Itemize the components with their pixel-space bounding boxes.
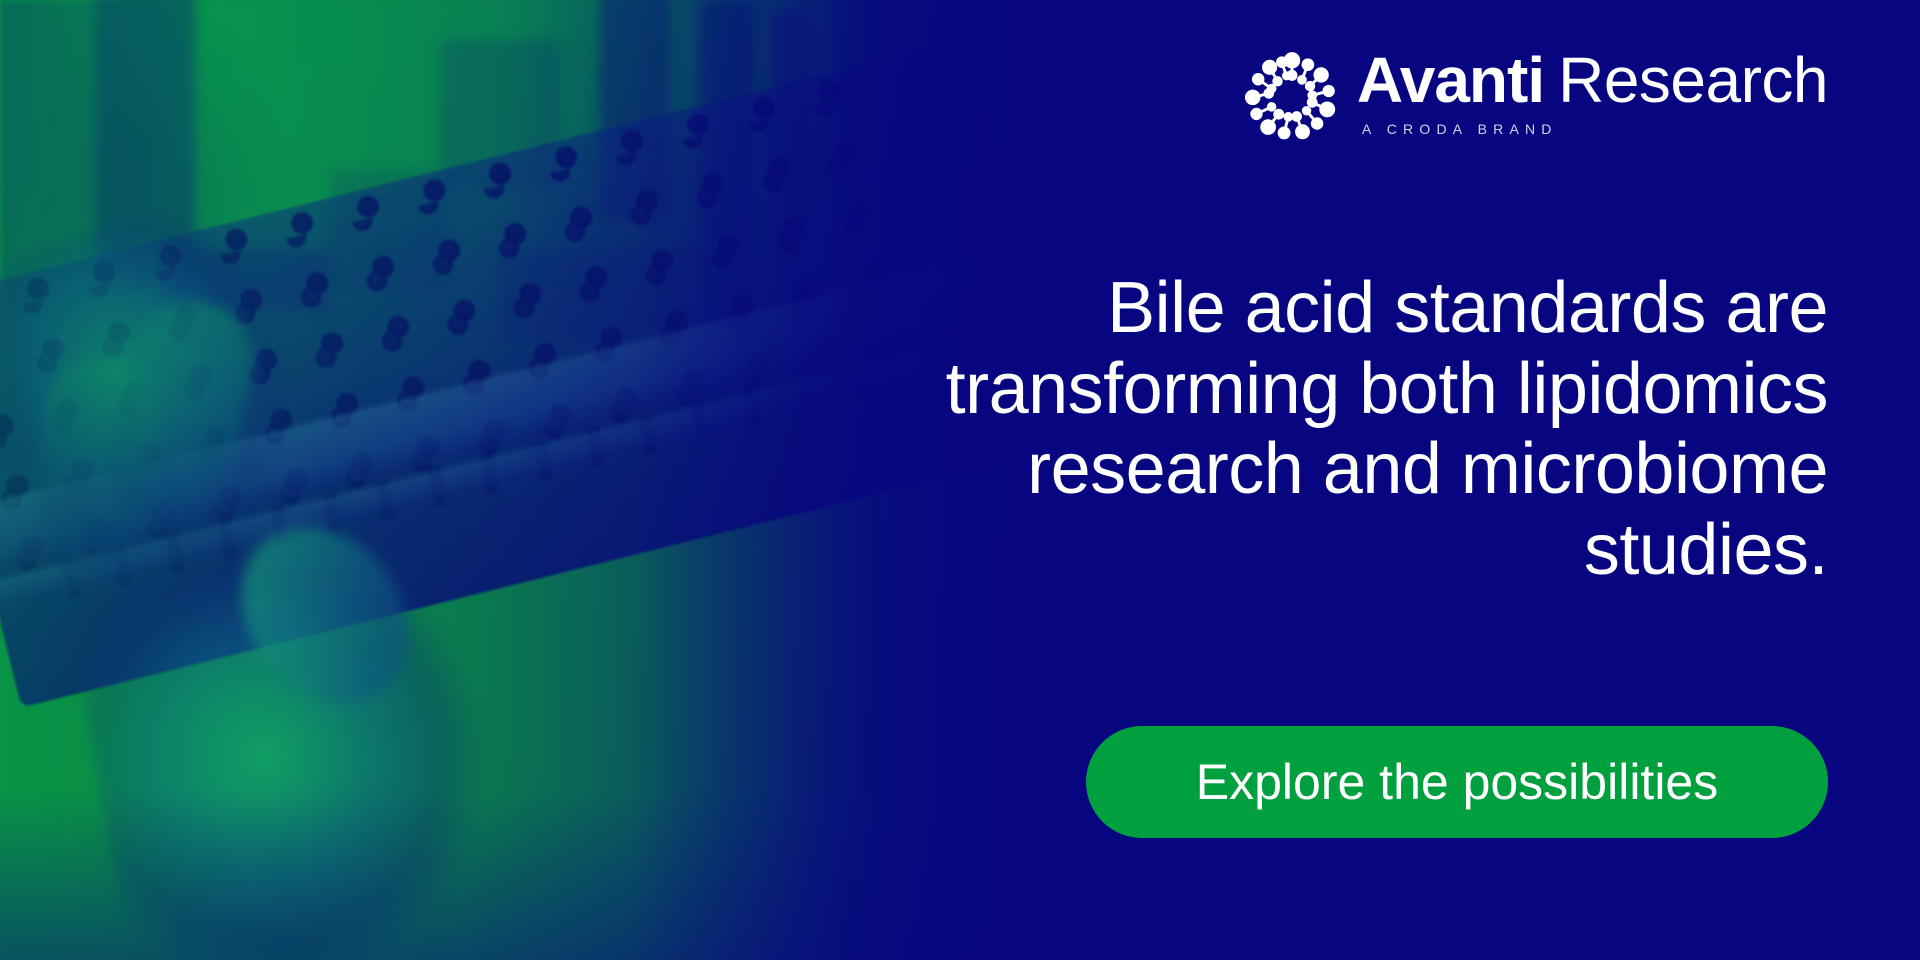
brand-logo[interactable]: Avanti Research A CRODA BRAND (1245, 48, 1828, 144)
brand-wordmark: Avanti Research A CRODA BRAND (1357, 48, 1828, 137)
molecule-ring-icon (1245, 50, 1339, 144)
promo-banner: Avanti Research A CRODA BRAND Bile acid … (0, 0, 1920, 960)
brand-tagline: A CRODA BRAND (1362, 121, 1558, 137)
explore-possibilities-button[interactable]: Explore the possibilities (1086, 726, 1828, 838)
brand-name-research: Research (1558, 48, 1828, 112)
brand-name: Avanti Research (1357, 48, 1828, 112)
brand-name-avanti: Avanti (1357, 48, 1544, 112)
page-title: Bile acid standards are transforming bot… (818, 268, 1828, 591)
banner-content: Avanti Research A CRODA BRAND Bile acid … (818, 0, 1828, 960)
